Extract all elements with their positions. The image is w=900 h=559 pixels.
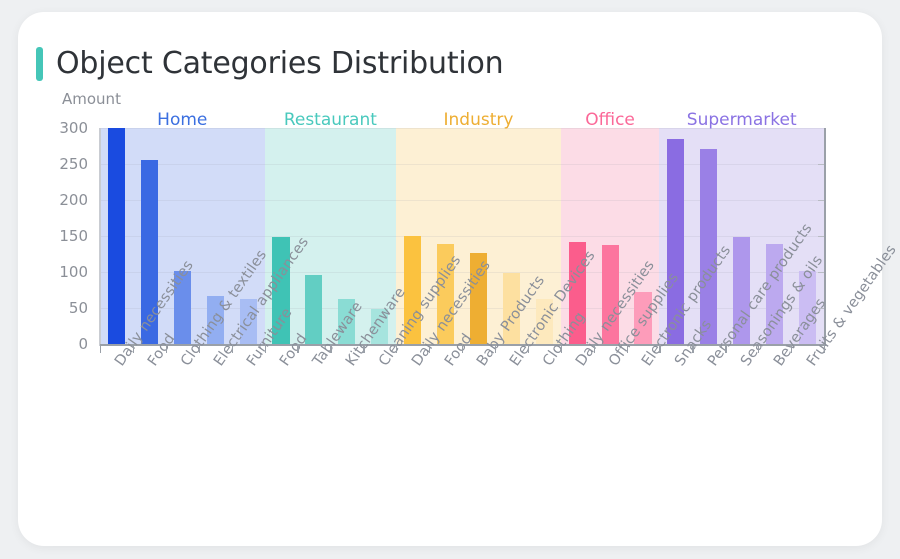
x-tick (166, 344, 167, 353)
x-tick (791, 344, 792, 353)
x-tick (429, 344, 430, 353)
x-tick (396, 344, 397, 353)
group-label-office: Office (585, 110, 635, 130)
right-axis-tick (818, 164, 824, 165)
x-tick (297, 344, 298, 353)
right-axis-tick (818, 308, 824, 309)
x-tick (758, 344, 759, 353)
x-tick (627, 344, 628, 353)
x-tick (232, 344, 233, 353)
right-axis-tick (818, 200, 824, 201)
x-tick (330, 344, 331, 353)
x-tick (265, 344, 266, 353)
group-label-restaurant: Restaurant (284, 110, 377, 130)
x-tick (594, 344, 595, 353)
group-label-industry: Industry (443, 110, 513, 130)
x-axis-labels: Daily necessitiesFoodClothing & textiles… (18, 12, 882, 546)
x-tick (199, 344, 200, 353)
x-tick (725, 344, 726, 353)
right-axis-tick (818, 236, 824, 237)
x-tick (495, 344, 496, 353)
x-tick-label: Food (277, 331, 311, 369)
right-axis-tick (818, 272, 824, 273)
group-label-home: Home (157, 110, 207, 130)
x-tick (133, 344, 134, 353)
x-tick-label: Food (145, 331, 179, 369)
x-tick (824, 344, 825, 353)
x-tick (692, 344, 693, 353)
chart-card: Object Categories Distribution Amount 30… (18, 12, 882, 546)
bar-chart: Amount 300250200150100500 Daily necessit… (18, 12, 882, 546)
x-tick (561, 344, 562, 353)
x-tick (363, 344, 364, 353)
x-tick (528, 344, 529, 353)
group-label-supermarket: Supermarket (687, 110, 797, 130)
x-tick-label: Food (442, 331, 476, 369)
x-tick (659, 344, 660, 353)
x-tick (100, 344, 101, 353)
x-tick (462, 344, 463, 353)
